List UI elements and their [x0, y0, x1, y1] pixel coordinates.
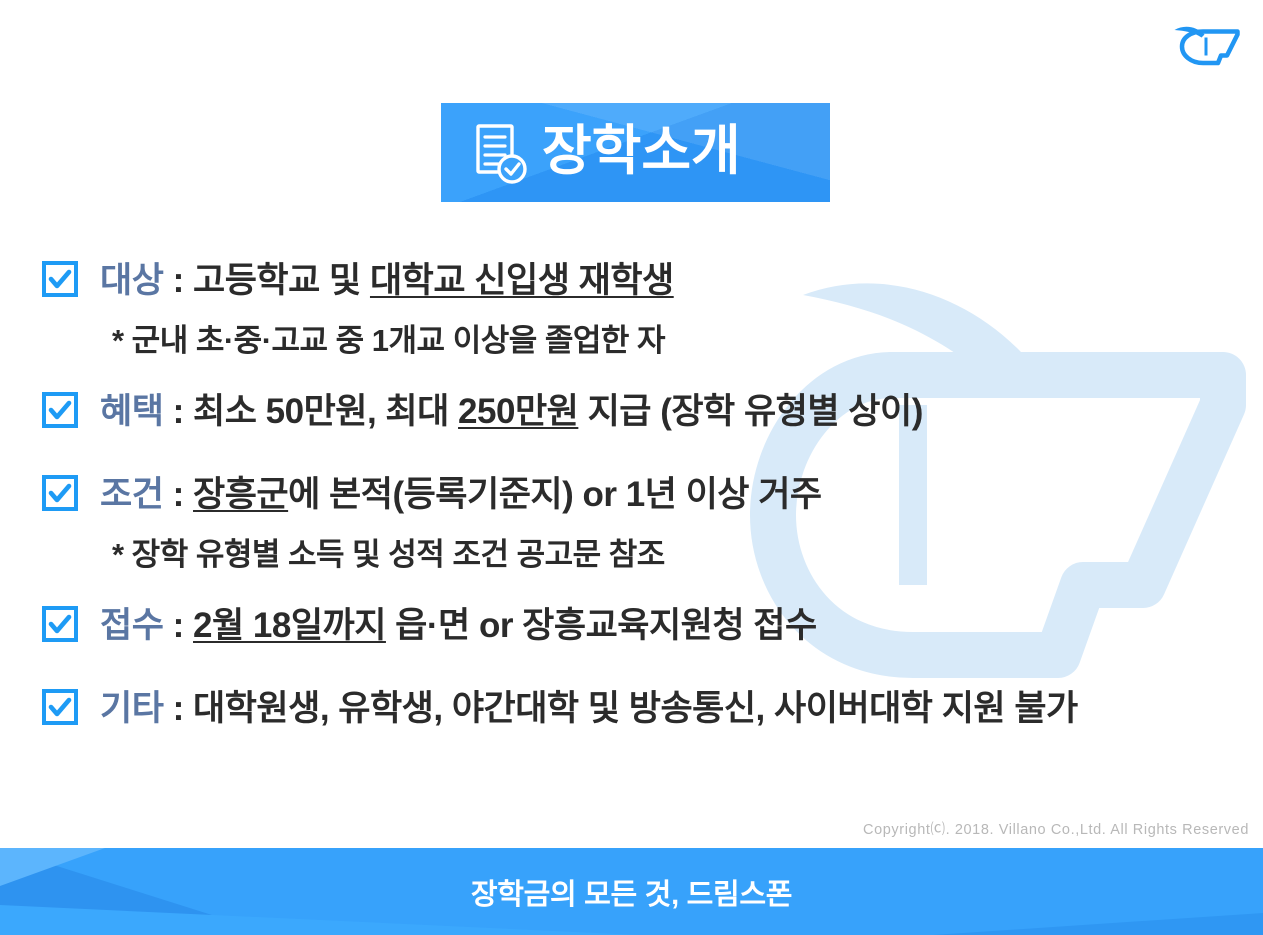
list-item-note: * 장학 유형별 소득 및 성적 조건 공고문 참조: [0, 529, 1263, 581]
list-item: 접수 : 2월 18일까지 읍·면 or 장흥교육지원청 접수: [0, 597, 1263, 654]
item-text-plain: 고등학교 및: [193, 261, 370, 300]
checkbox-checked-icon: [42, 261, 78, 297]
item-text-underlined: 장흥군: [193, 475, 288, 514]
item-label: 기타: [100, 689, 163, 728]
list-item-text: 기타 : 대학원생, 유학생, 야간대학 및 방송통신, 사이버대학 지원 불가: [100, 680, 1078, 737]
list-item: 조건 : 장흥군에 본적(등록기준지) or 1년 이상 거주: [0, 466, 1263, 523]
spacer: [0, 581, 1263, 597]
item-separator: :: [163, 475, 193, 514]
note-text: * 장학 유형별 소득 및 성적 조건 공고문 참조: [112, 537, 665, 572]
item-text-underlined: 2월 18일까지: [193, 606, 386, 645]
item-separator: :: [163, 689, 193, 728]
note-text: * 군내 초·중·고교 중 1개교 이상을 졸업한 자: [112, 323, 665, 358]
list-item: 혜택 : 최소 50만원, 최대 250만원 지급 (장학 유형별 상이): [0, 383, 1263, 440]
dreamspon-bird-logo-icon: [1167, 12, 1245, 84]
item-label: 조건: [100, 475, 163, 514]
scholarship-info-list: 대상 : 고등학교 및 대학교 신입생 재학생 * 군내 초·중·고교 중 1개…: [0, 252, 1263, 737]
spacer: [0, 440, 1263, 466]
list-item: 기타 : 대학원생, 유학생, 야간대학 및 방송통신, 사이버대학 지원 불가: [0, 680, 1263, 737]
item-label: 접수: [100, 606, 163, 645]
list-item-text: 혜택 : 최소 50만원, 최대 250만원 지급 (장학 유형별 상이): [100, 383, 923, 440]
item-separator: :: [163, 392, 193, 431]
list-item: 대상 : 고등학교 및 대학교 신입생 재학생: [0, 252, 1263, 309]
item-text-underlined: 250만원: [458, 392, 578, 431]
list-item-note: * 군내 초·중·고교 중 1개교 이상을 졸업한 자: [0, 315, 1263, 367]
item-text-tail: 지급 (장학 유형별 상이): [578, 392, 923, 431]
item-separator: :: [163, 606, 193, 645]
list-item-text: 접수 : 2월 18일까지 읍·면 or 장흥교육지원청 접수: [100, 597, 817, 654]
item-text-tail: 읍·면 or 장흥교육지원청 접수: [386, 606, 817, 645]
spacer: [0, 367, 1263, 383]
checkbox-checked-icon: [42, 606, 78, 642]
item-text-tail: 에 본적(등록기준지) or 1년 이상 거주: [288, 475, 822, 514]
item-text-plain: 대학원생, 유학생, 야간대학 및 방송통신, 사이버대학 지원 불가: [193, 689, 1078, 728]
item-separator: :: [163, 261, 193, 300]
checkbox-checked-icon: [42, 689, 78, 725]
checkbox-checked-icon: [42, 392, 78, 428]
title-banner: 장학소개: [441, 103, 830, 202]
footer-banner: 장학금의 모든 것, 드림스폰: [0, 848, 1263, 935]
list-item-text: 조건 : 장흥군에 본적(등록기준지) or 1년 이상 거주: [100, 466, 822, 523]
item-label: 대상: [100, 261, 163, 300]
list-item-text: 대상 : 고등학교 및 대학교 신입생 재학생: [100, 252, 674, 309]
copyright-text: Copyright⒞. 2018. Villano Co.,Ltd. All R…: [863, 818, 1249, 839]
checkbox-checked-icon: [42, 475, 78, 511]
spacer: [0, 654, 1263, 680]
slide-root: 장학소개 대상 : 고등학교 및 대학교 신입생 재학생 * 군내 초·중·고교…: [0, 0, 1263, 935]
item-text-plain: 최소 50만원, 최대: [193, 392, 458, 431]
document-check-icon: [470, 120, 532, 186]
item-label: 혜택: [100, 392, 163, 431]
footer-tagline: 장학금의 모든 것, 드림스폰: [0, 848, 1263, 935]
item-text-underlined: 대학교 신입생 재학생: [370, 261, 674, 300]
page-title: 장학소개: [542, 124, 741, 182]
